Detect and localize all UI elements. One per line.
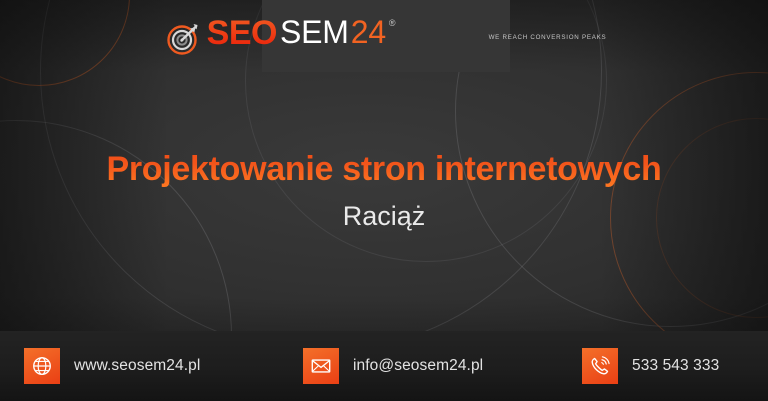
logo-wordmark: SEO SEM 24 ®	[207, 16, 396, 50]
logo-word-24: 24	[351, 16, 386, 48]
email-label: info@seosem24.pl	[353, 357, 483, 375]
envelope-icon	[303, 348, 339, 384]
phone-label: 533 543 333	[632, 357, 719, 375]
logo-word-sem: SEM	[280, 16, 349, 48]
logo-tagline: WE REACH CONVERSION PEAKS	[489, 34, 607, 41]
website-label: www.seosem24.pl	[74, 357, 200, 375]
promo-banner: SEO SEM 24 ® WE REACH CONVERSION PEAKS P…	[0, 0, 768, 401]
registered-trademark-icon: ®	[389, 19, 396, 28]
brand-logo: SEO SEM 24 ® WE REACH CONVERSION PEAKS	[262, 0, 510, 72]
contact-bar: www.seosem24.pl info@seosem24.pl	[0, 331, 768, 401]
globe-icon	[24, 348, 60, 384]
logo-word-seo: SEO	[207, 16, 277, 50]
phone-icon	[582, 348, 618, 384]
target-arrow-icon	[166, 20, 202, 56]
logo-inner: SEO SEM 24 ®	[166, 16, 396, 56]
logo-word-line: SEO SEM 24 ®	[207, 16, 396, 50]
page-title: Projektowanie stron internetowych	[0, 150, 768, 189]
contact-website[interactable]: www.seosem24.pl	[24, 348, 200, 384]
page-subtitle: Raciąż	[0, 201, 768, 232]
contact-email[interactable]: info@seosem24.pl	[303, 348, 483, 384]
contact-phone[interactable]: 533 543 333	[582, 348, 719, 384]
